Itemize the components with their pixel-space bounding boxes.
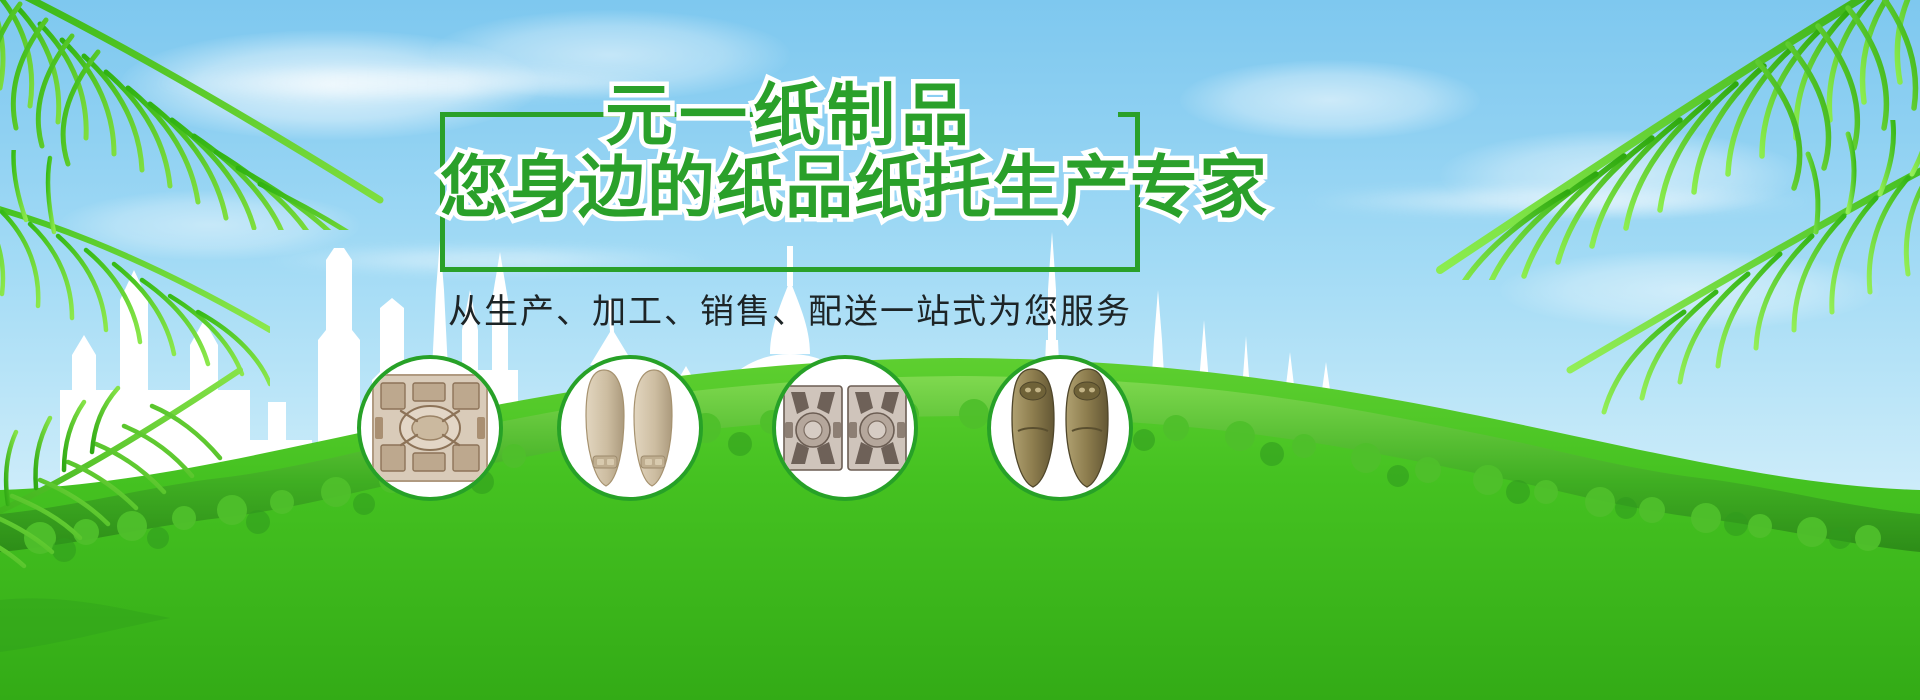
molded-pulp-shoe-insert-pair-icon xyxy=(1002,365,1118,491)
molded-pulp-tray-square-icon xyxy=(371,373,489,483)
product-circle-4[interactable] xyxy=(987,355,1133,501)
molded-pulp-shoe-tree-pair-icon xyxy=(574,364,686,492)
headline-block: 元一纸制品 您身边的纸品纸托生产专家 xyxy=(440,84,1140,274)
molded-pulp-packaging-pair-icon xyxy=(783,382,907,474)
headline-text: 您身边的纸品纸托生产专家 xyxy=(440,146,1140,230)
promo-banner: 元一纸制品 您身边的纸品纸托生产专家 从生产、加工、销售、配送一站式为您服务 xyxy=(0,0,1920,700)
product-circle-3[interactable] xyxy=(772,355,918,501)
product-circle-1[interactable] xyxy=(357,355,503,501)
subtitle-text: 从生产、加工、销售、配送一站式为您服务 xyxy=(440,290,1140,334)
product-circle-2[interactable] xyxy=(557,355,703,501)
